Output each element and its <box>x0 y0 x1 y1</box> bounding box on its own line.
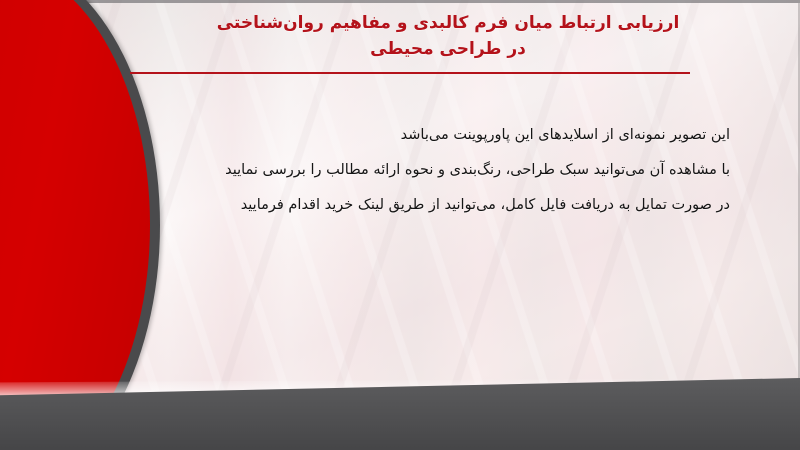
slide-top-edge <box>0 0 800 3</box>
body-line-3: در صورت تمایل به دریافت فایل کامل، می‌تو… <box>110 188 730 223</box>
body-line-2: با مشاهده آن می‌توانید سبک طراحی، رنگ‌بن… <box>110 153 730 188</box>
slide-title: ارزیابی ارتباط میان فرم کالبدی و مفاهیم … <box>110 10 786 62</box>
slide-body-text: این تصویر نمونه‌ای از اسلایدهای این پاور… <box>110 118 730 223</box>
presentation-slide: ارزیابی ارتباط میان فرم کالبدی و مفاهیم … <box>0 0 800 450</box>
title-line-2: در طراحی محیطی <box>110 36 786 62</box>
title-divider-rule <box>130 72 690 74</box>
body-line-1: این تصویر نمونه‌ای از اسلایدهای این پاور… <box>110 118 730 153</box>
title-line-1: ارزیابی ارتباط میان فرم کالبدی و مفاهیم … <box>110 10 786 36</box>
